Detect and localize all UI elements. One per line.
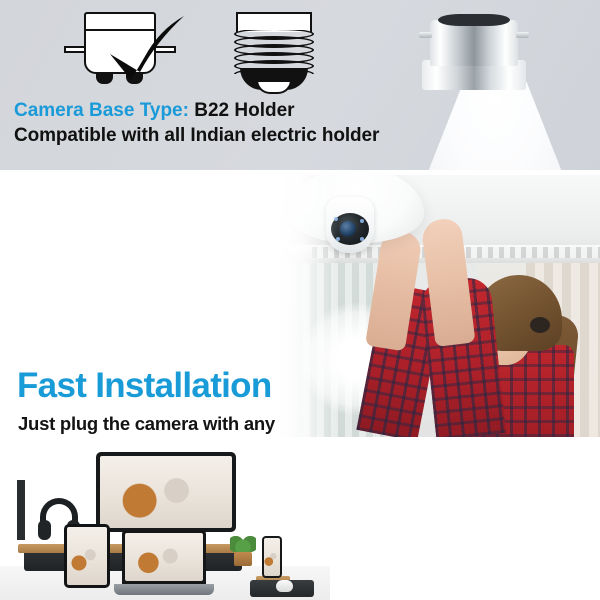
fast-installation-body: Just plug the camera with any B22 Base b… bbox=[18, 412, 275, 437]
install-body-line-2: B22 Base bulb holder, bbox=[18, 437, 275, 438]
headphone-stand bbox=[17, 480, 25, 540]
camera-lens bbox=[340, 221, 356, 237]
phone-screen-content bbox=[264, 538, 280, 576]
base-type-text: Camera Base Type: B22 Holder Compatible … bbox=[14, 98, 514, 148]
check-mark-icon bbox=[104, 14, 188, 90]
live-stream-section: Live Stream Available on Windows Compute… bbox=[0, 440, 600, 600]
plant-pot bbox=[234, 552, 252, 566]
bulb-lug-left bbox=[419, 32, 432, 38]
woman-installing-ceiling-camera-photo bbox=[278, 175, 600, 437]
bulb-bayonet-cap bbox=[430, 20, 518, 66]
monitor-screen-content bbox=[100, 456, 232, 528]
e27-screw-base-icon bbox=[228, 8, 320, 92]
base-type-value: B22 Holder bbox=[189, 100, 295, 121]
screw-base-contact bbox=[256, 80, 292, 94]
potted-plant bbox=[230, 536, 256, 566]
bayonet-pin-left bbox=[64, 46, 86, 53]
laptop-keyboard-base bbox=[114, 584, 214, 595]
screw-base-top bbox=[236, 12, 312, 32]
base-type-compatibility: Compatible with all Indian electric hold… bbox=[14, 123, 514, 148]
bulb-cap-top bbox=[438, 14, 510, 26]
desktop-monitor bbox=[96, 452, 236, 532]
product-infographic: Camera Base Type: B22 Holder Compatible … bbox=[0, 0, 600, 600]
photo-fade-edge bbox=[278, 175, 338, 437]
tablet-screen-content bbox=[67, 527, 107, 585]
hair-tie bbox=[530, 317, 550, 333]
base-type-section: Camera Base Type: B22 Holder Compatible … bbox=[0, 0, 600, 170]
base-type-line-1: Camera Base Type: B22 Holder bbox=[14, 98, 514, 123]
fast-installation-section: Fast Installation Just plug the camera w… bbox=[0, 175, 600, 437]
b22-bayonet-base-icon bbox=[64, 8, 176, 92]
base-type-label: Camera Base Type: bbox=[14, 100, 189, 121]
tablet bbox=[64, 524, 110, 588]
base-type-icons bbox=[0, 2, 340, 94]
fast-installation-heading: Fast Installation bbox=[17, 367, 272, 405]
install-body-line-1: Just plug the camera with any bbox=[18, 412, 275, 437]
smartphone bbox=[262, 536, 282, 578]
laptop-screen-content bbox=[125, 533, 203, 581]
multi-device-cluster-photo bbox=[0, 440, 330, 600]
headphone-cup-left bbox=[38, 520, 51, 540]
mouse bbox=[276, 580, 293, 592]
laptop bbox=[122, 530, 206, 584]
bulb-lug-right bbox=[516, 32, 529, 38]
